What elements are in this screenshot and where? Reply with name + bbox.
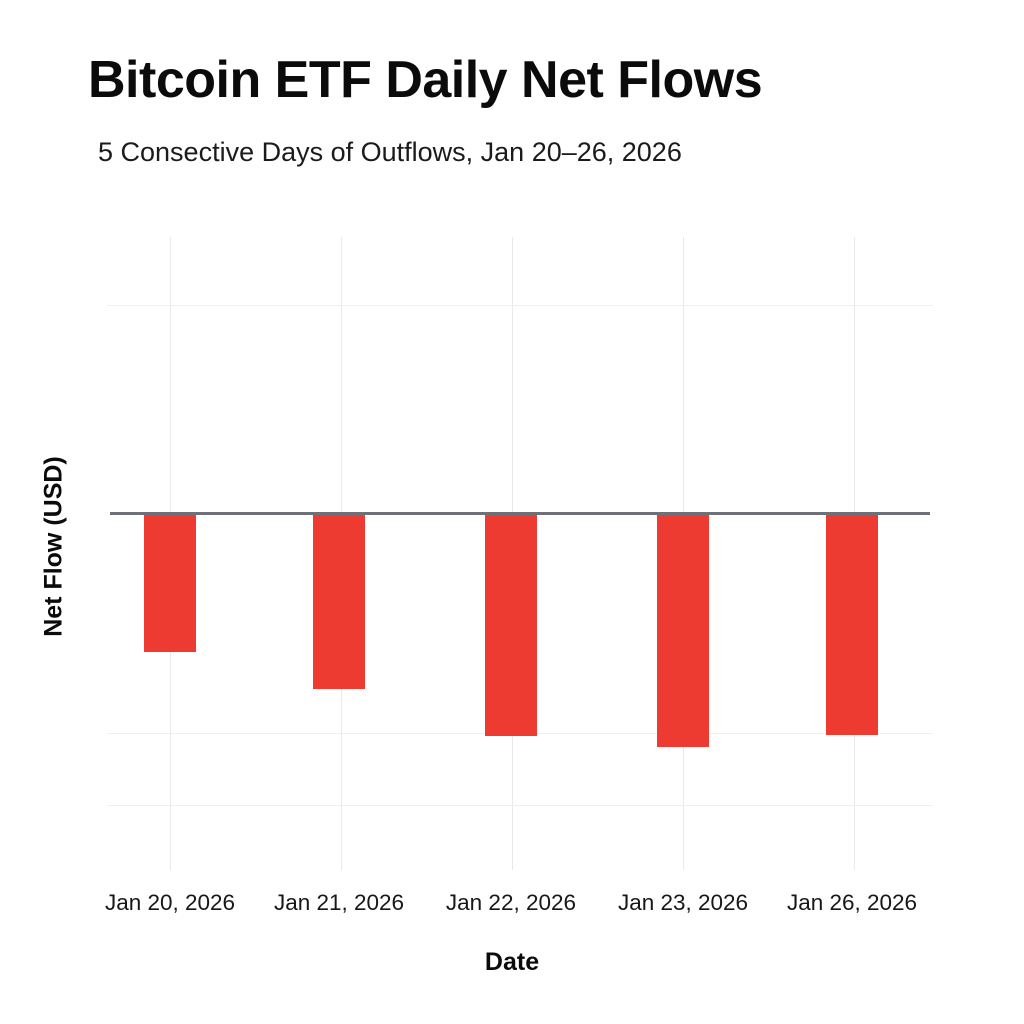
gridline-horizontal: [107, 805, 933, 806]
x-tick-label: Jan 22, 2026: [446, 890, 576, 916]
plot-area: [110, 237, 930, 870]
y-axis-title: Net Flow (USD): [40, 397, 69, 697]
x-tick-label: Jan 23, 2026: [618, 890, 748, 916]
bar-4[interactable]: [657, 513, 709, 747]
chart-subtitle: 5 Consective Days of Outflows, Jan 20–26…: [98, 136, 978, 168]
chart-figure: Bitcoin ETF Daily Net Flows 5 Consective…: [0, 0, 1024, 1024]
zero-baseline: [110, 512, 930, 515]
bar-5[interactable]: [826, 513, 878, 735]
x-tick-label: Jan 21, 2026: [274, 890, 404, 916]
bar-1[interactable]: [144, 513, 196, 652]
bar-3[interactable]: [485, 513, 537, 736]
chart-title: Bitcoin ETF Daily Net Flows: [88, 52, 968, 109]
x-tick-label: Jan 20, 2026: [105, 890, 235, 916]
x-axis-title: Date: [0, 948, 1024, 977]
bar-2[interactable]: [313, 513, 365, 689]
gridline-horizontal: [107, 305, 933, 306]
x-tick-label: Jan 26, 2026: [787, 890, 917, 916]
